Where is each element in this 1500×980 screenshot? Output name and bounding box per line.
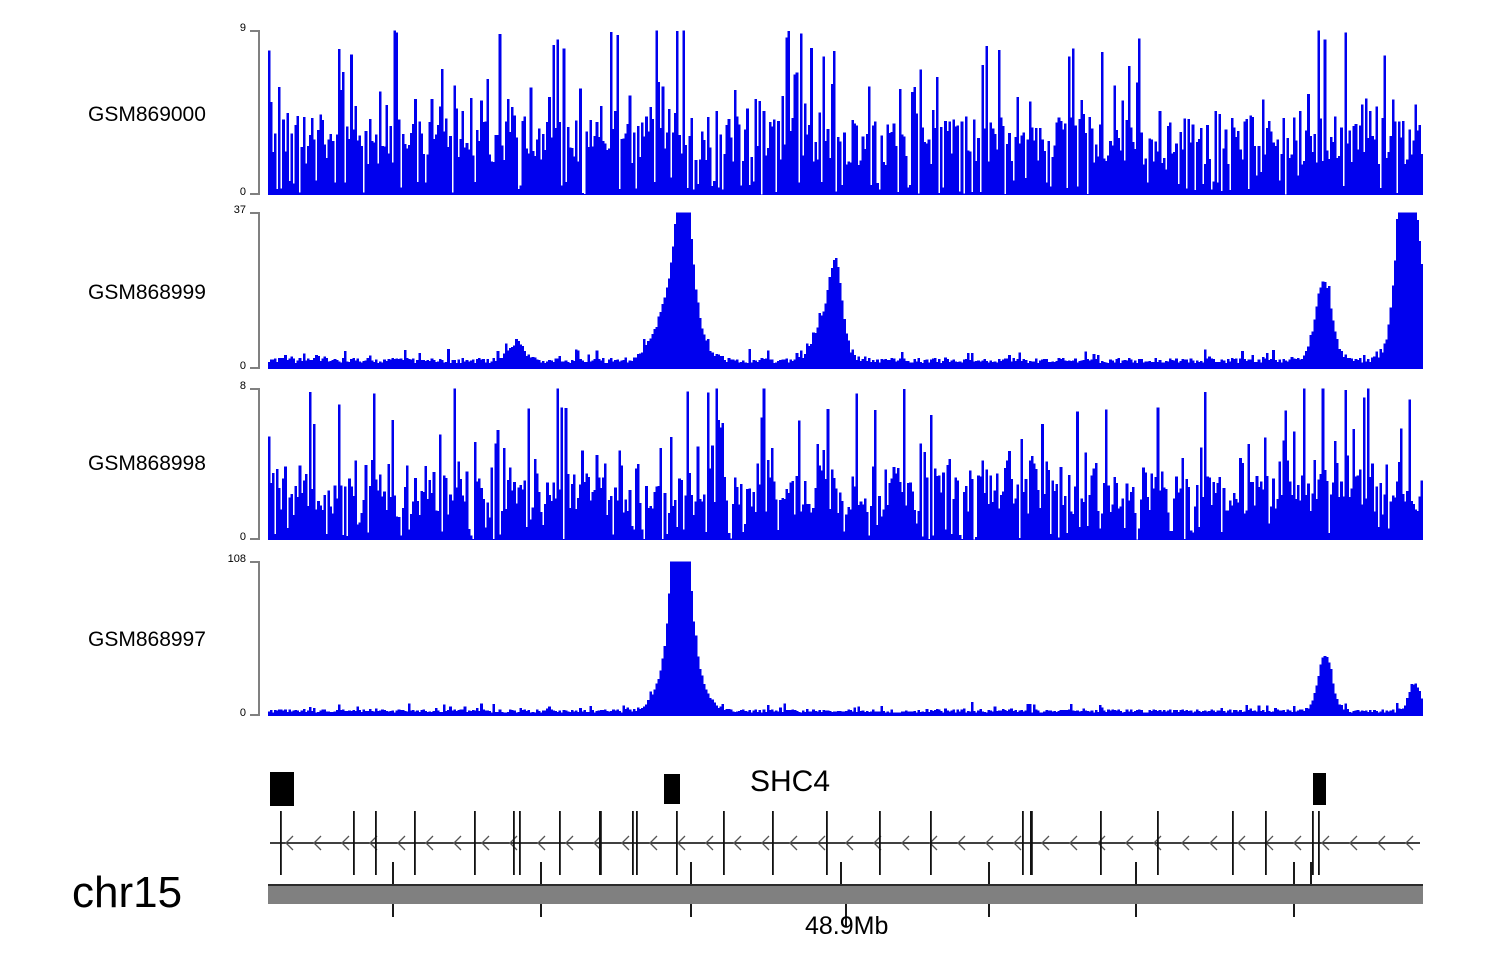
ruler-tick-top-1 <box>540 862 542 884</box>
plot-area-gsm869000[interactable] <box>268 30 1423 195</box>
ruler-tick-top-4 <box>988 862 990 884</box>
axis-max-gsm868999: 37 <box>198 204 246 216</box>
axis-tick-max-gsm868999 <box>250 212 259 214</box>
track-label-gsm868999: GSM868999 <box>88 281 206 305</box>
gene-name-label: SHC4 <box>750 765 830 799</box>
signal-track-gsm868997[interactable]: GSM8689971080 <box>0 561 1500 716</box>
ruler-tick-top-6 <box>1293 862 1295 884</box>
axis-bracket-gsm868997 <box>258 561 260 716</box>
plot-area-gsm868999[interactable] <box>268 212 1423 369</box>
plot-area-gsm868997[interactable] <box>268 561 1423 716</box>
axis-max-gsm869000: 9 <box>198 22 246 34</box>
ruler-tick-bottom-4 <box>988 904 990 917</box>
genome-browser: GSM86900090GSM868999370GSM86899880GSM868… <box>0 0 1500 980</box>
signal-track-gsm869000[interactable]: GSM86900090 <box>0 30 1500 195</box>
axis-tick-max-gsm869000 <box>250 30 259 32</box>
axis-bracket-gsm868999 <box>258 212 260 369</box>
axis-tick-min-gsm868999 <box>250 367 259 369</box>
axis-min-gsm868999: 0 <box>198 360 246 372</box>
ruler-tick-bottom-1 <box>540 904 542 917</box>
ideogram-bar[interactable] <box>268 884 1423 904</box>
axis-bracket-gsm869000 <box>258 30 260 195</box>
axis-tick-max-gsm868997 <box>250 561 259 563</box>
axis-tick-min-gsm868998 <box>250 538 259 540</box>
axis-min-gsm868998: 0 <box>198 531 246 543</box>
plot-area-gsm868998[interactable] <box>268 388 1423 540</box>
ruler-tick-top-5 <box>1135 862 1137 884</box>
ruler-tick-top-3 <box>840 862 842 884</box>
axis-min-gsm868997: 0 <box>198 707 246 719</box>
ruler-tick-top-0 <box>392 862 394 884</box>
axis-max-gsm868997: 108 <box>198 553 246 565</box>
axis-tick-min-gsm869000 <box>250 193 259 195</box>
axis-min-gsm869000: 0 <box>198 186 246 198</box>
axis-max-gsm868998: 8 <box>198 380 246 392</box>
track-label-gsm868997: GSM868997 <box>88 628 206 652</box>
ruler-tick-bottom-6 <box>1293 904 1295 917</box>
track-label-gsm869000: GSM869000 <box>88 103 206 127</box>
chromosome-ruler[interactable]: 48.9Mb <box>0 862 1500 972</box>
axis-tick-min-gsm868997 <box>250 714 259 716</box>
signal-track-gsm868998[interactable]: GSM86899880 <box>0 388 1500 540</box>
coordinate-label: 48.9Mb <box>805 912 888 941</box>
track-label-gsm868998: GSM868998 <box>88 452 206 476</box>
signal-track-gsm868999[interactable]: GSM868999370 <box>0 212 1500 369</box>
axis-tick-max-gsm868998 <box>250 388 259 390</box>
ruler-tick-top-2 <box>690 862 692 884</box>
ruler-tick-bottom-0 <box>392 904 394 917</box>
ruler-tick-top-7 <box>1310 862 1312 884</box>
ruler-tick-bottom-5 <box>1135 904 1137 917</box>
ruler-tick-bottom-2 <box>690 904 692 917</box>
axis-bracket-gsm868998 <box>258 388 260 540</box>
